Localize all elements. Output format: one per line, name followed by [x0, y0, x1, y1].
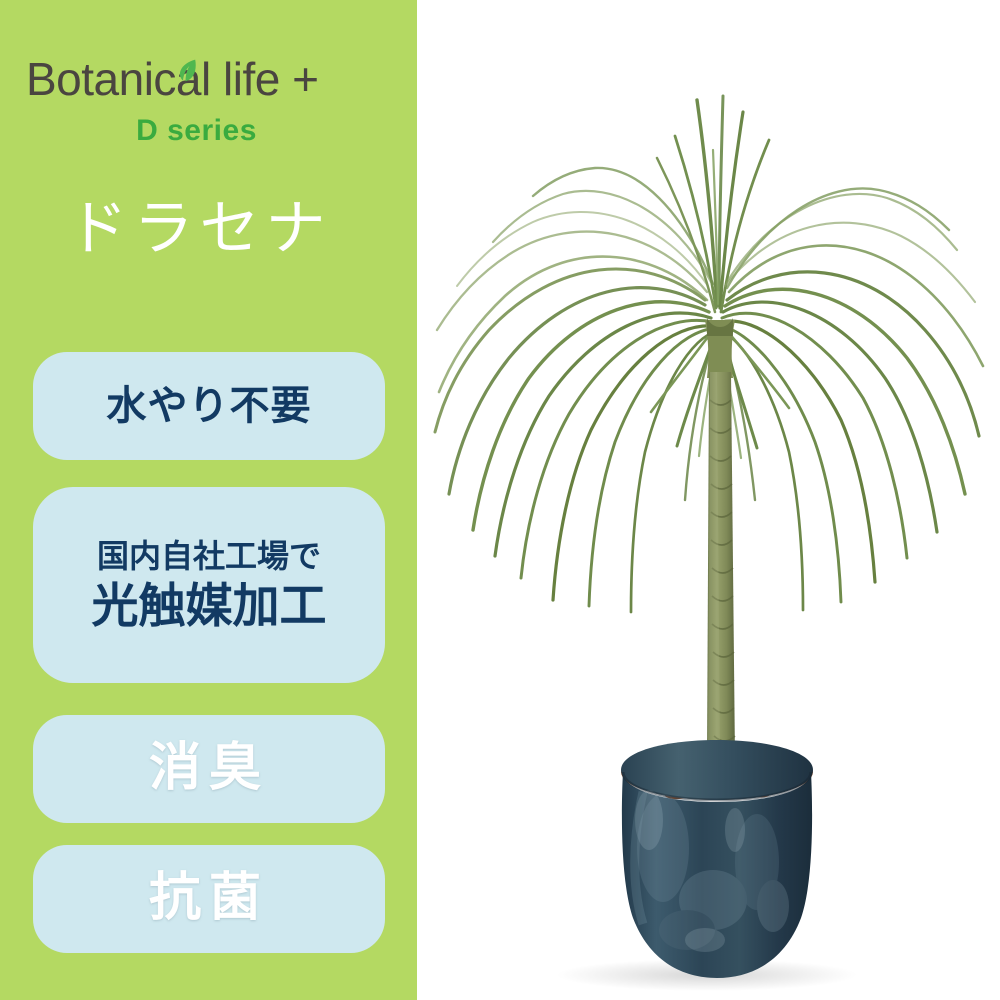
badge-line: 消臭: [149, 740, 269, 797]
badge-deodorizing: 消臭: [33, 715, 385, 823]
info-panel: Botanical life + D series ドラセナ 水やり不要 国内自…: [0, 0, 417, 1000]
brand-series: D series: [0, 114, 417, 148]
dracaena-plant-illustration: [417, 0, 1000, 1000]
badge-line: 水やり不要: [107, 383, 312, 429]
brand-title: Botanical life +: [26, 56, 417, 102]
badge-line: 抗菌: [149, 870, 269, 927]
product-name: ドラセナ: [0, 196, 417, 262]
badge-line: 国内自社工場で: [97, 537, 321, 575]
brand-lockup: Botanical life + D series: [0, 56, 417, 148]
product-image-canvas: Botanical life + D series ドラセナ 水やり不要 国内自…: [0, 0, 1000, 1000]
product-photo: [417, 0, 1000, 1000]
badge-line: 光触媒加工: [92, 579, 327, 633]
badge-no-watering: 水やり不要: [33, 352, 385, 460]
badge-antibacterial: 抗菌: [33, 845, 385, 953]
badge-photocatalyst: 国内自社工場で 光触媒加工: [33, 487, 385, 683]
